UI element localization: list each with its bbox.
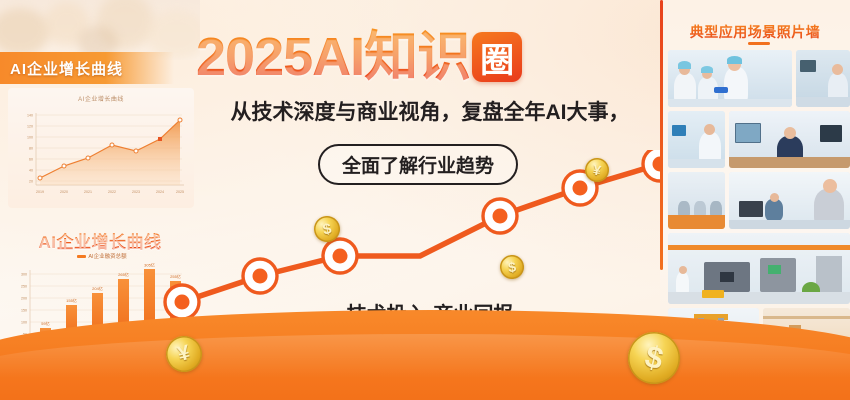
svg-text:2023: 2023 (132, 190, 140, 194)
doctors-consult-photo[interactable] (668, 50, 792, 107)
poster-canvas: AI企业增长曲线 AI企业增长曲线 (0, 0, 850, 400)
photo-wall-underline (748, 42, 770, 45)
left-line-chart-title: AI企业增长曲线 (8, 94, 194, 103)
smart-factory-line-photo[interactable] (668, 233, 850, 303)
left-banner-label: AI企业增长曲线 (10, 58, 123, 79)
poster-title-row: 2025AI知识 圈 (196, 26, 676, 88)
photo-row (668, 111, 850, 168)
left-banner: AI企业增长曲线 (0, 52, 174, 84)
engineer-workstation-photo[interactable] (796, 50, 850, 107)
svg-text:59亿: 59亿 (41, 320, 49, 326)
svg-text:150: 150 (21, 309, 27, 313)
svg-text:140: 140 (27, 114, 33, 118)
svg-text:100: 100 (21, 321, 27, 325)
svg-text:155亿: 155亿 (66, 297, 77, 303)
photo-row (668, 50, 850, 107)
svg-text:80: 80 (29, 147, 33, 151)
svg-text:200: 200 (21, 297, 27, 301)
lab-technician-photo[interactable] (668, 111, 725, 168)
laptop-worker-photo[interactable] (729, 172, 850, 229)
legend-swatch (77, 255, 86, 258)
svg-text:60: 60 (29, 158, 33, 162)
svg-text:204亿: 204亿 (92, 285, 103, 291)
svg-text:265亿: 265亿 (118, 271, 129, 277)
svg-text:2022: 2022 (108, 190, 116, 194)
svg-text:2019: 2019 (36, 190, 44, 194)
photo-row (668, 233, 850, 303)
poster-subtitle: 从技术深度与商业视角，复盘全年AI大事， (190, 96, 670, 126)
page-title: 2025AI知识 (196, 27, 470, 87)
svg-text:20: 20 (29, 180, 33, 184)
left-background-photo (0, 0, 200, 60)
svg-text:40: 40 (29, 169, 33, 173)
svg-text:2021: 2021 (84, 190, 92, 194)
photo-wall-title: 典型应用场景照片墙 (660, 22, 850, 42)
office-analyst-photo[interactable] (729, 111, 850, 168)
svg-text:2020: 2020 (60, 190, 68, 194)
legend-label: AI企业融资总额 (88, 254, 126, 260)
title-badge: 圈 (472, 32, 522, 82)
svg-text:300: 300 (21, 273, 27, 277)
svg-text:250: 250 (21, 285, 27, 289)
open-office-photo[interactable] (668, 172, 725, 229)
svg-text:120: 120 (27, 125, 33, 129)
photo-row (668, 172, 850, 229)
svg-text:100: 100 (27, 136, 33, 140)
